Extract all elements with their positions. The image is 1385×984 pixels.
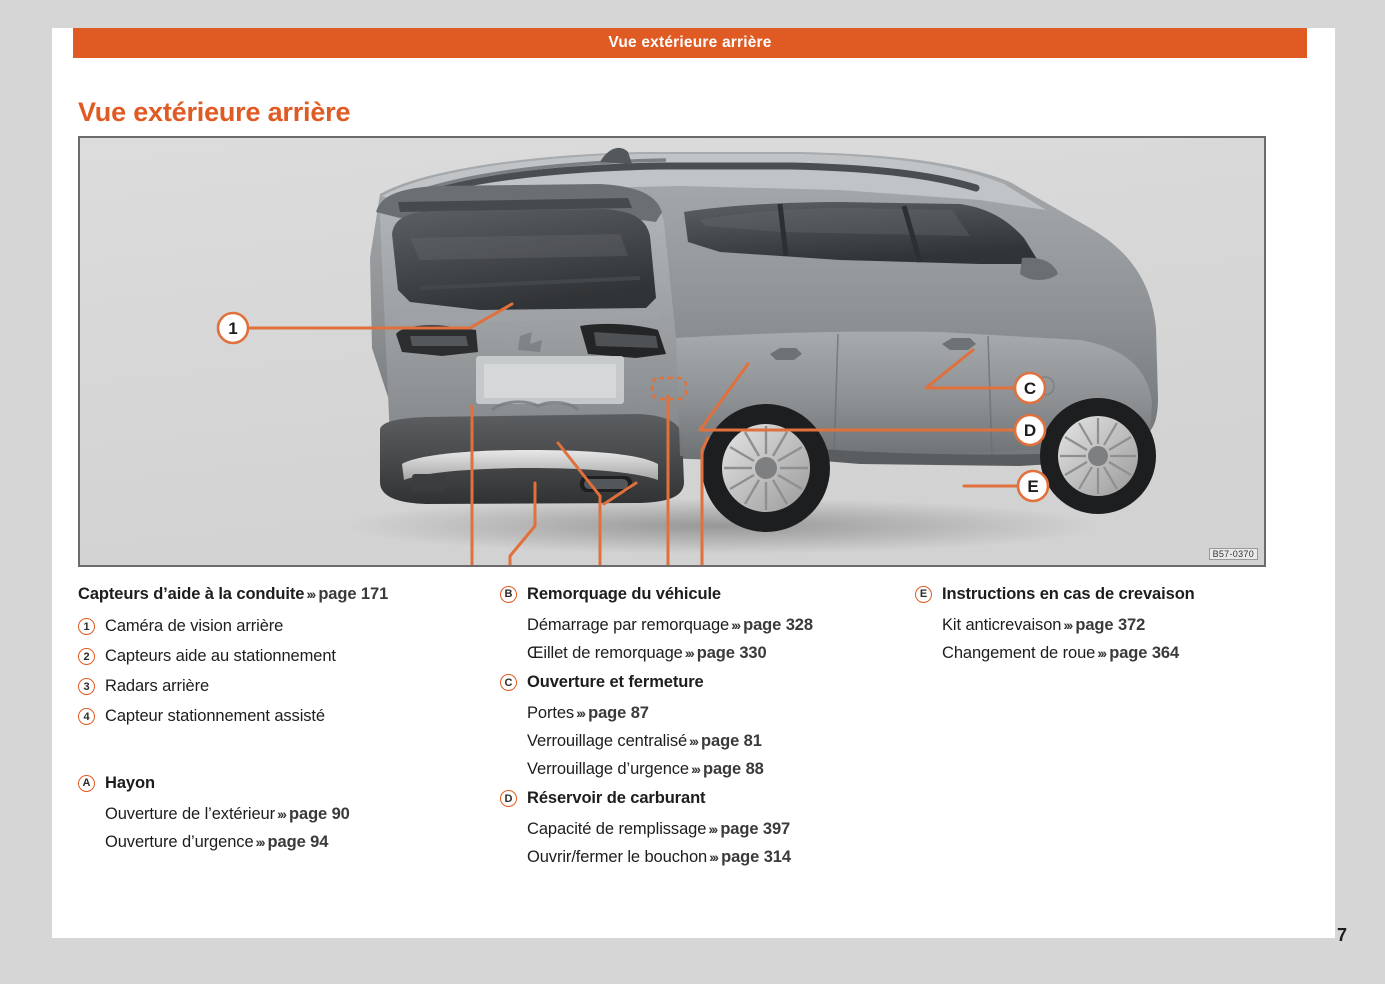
legend-group-towing: B Remorquage du véhicule bbox=[500, 584, 900, 605]
list-item-label: Ouverture de l’extérieur bbox=[105, 805, 275, 823]
list-item-label: Capteurs aide au stationnement bbox=[105, 646, 336, 667]
page-reference[interactable]: page 328 bbox=[743, 616, 813, 634]
legend-group-label: Réservoir de carburant bbox=[527, 788, 705, 809]
callout-marker-3: 3 bbox=[78, 678, 95, 695]
legend-column-1: Capteurs d’aide à la conduite›››page 171… bbox=[78, 584, 488, 861]
svg-text:E: E bbox=[1027, 477, 1038, 496]
legend-spacer bbox=[78, 737, 488, 773]
callout-marker-b: B bbox=[500, 586, 517, 603]
legend-group-hayon: A Hayon bbox=[78, 773, 488, 794]
chevron-icon: ››› bbox=[277, 806, 285, 822]
list-item-label: Portes bbox=[527, 704, 574, 722]
callout-marker-1: 1 bbox=[78, 618, 95, 635]
chevron-icon: ››› bbox=[1097, 645, 1105, 661]
page-number: 7 bbox=[1337, 925, 1347, 946]
legend-heading-label: Capteurs d’aide à la conduite bbox=[78, 585, 304, 603]
legend-group-opening-closing: C Ouverture et fermeture bbox=[500, 672, 900, 693]
list-item: 3 Radars arrière bbox=[78, 676, 488, 697]
list-item-label: Caméra de vision arrière bbox=[105, 616, 283, 637]
list-item: Démarrage par remorquage›››page 328 bbox=[527, 616, 900, 635]
chevron-icon: ››› bbox=[691, 761, 699, 777]
figure-frame: 1 A B 2 3 4 C D E B57-0370 bbox=[78, 136, 1266, 567]
list-item: 2 Capteurs aide au stationnement bbox=[78, 646, 488, 667]
chevron-icon: ››› bbox=[1063, 617, 1071, 633]
svg-text:C: C bbox=[1024, 379, 1036, 398]
page-reference[interactable]: page 397 bbox=[720, 820, 790, 838]
page-reference[interactable]: page 364 bbox=[1109, 644, 1179, 662]
legend-group-puncture: E Instructions en cas de crevaison bbox=[915, 584, 1315, 605]
chevron-icon: ››› bbox=[731, 617, 739, 633]
callout-marker-d: D bbox=[500, 790, 517, 807]
page-reference[interactable]: page 90 bbox=[289, 805, 350, 823]
list-item-label: Capteur stationnement assisté bbox=[105, 706, 325, 727]
page-reference[interactable]: page 88 bbox=[703, 760, 764, 778]
list-item-label: Ouverture d’urgence bbox=[105, 833, 254, 851]
list-item: Ouvrir/fermer le bouchon›››page 314 bbox=[527, 848, 900, 867]
list-item: Changement de roue›››page 364 bbox=[942, 644, 1315, 663]
legend-group-label: Remorquage du véhicule bbox=[527, 584, 721, 605]
list-item: Kit anticrevaison›››page 372 bbox=[942, 616, 1315, 635]
legend-group-label: Hayon bbox=[105, 773, 155, 794]
page-reference[interactable]: page 372 bbox=[1075, 616, 1145, 634]
page-reference[interactable]: page 314 bbox=[721, 848, 791, 866]
list-item: Ouverture de l’extérieur›››page 90 bbox=[105, 805, 488, 824]
list-item-label: Ouvrir/fermer le bouchon bbox=[527, 848, 707, 866]
list-item: Verrouillage d’urgence›››page 88 bbox=[527, 760, 900, 779]
page-reference[interactable]: page 94 bbox=[268, 833, 329, 851]
list-item-label: Démarrage par remorquage bbox=[527, 616, 729, 634]
legend-heading-driving-sensors: Capteurs d’aide à la conduite›››page 171 bbox=[78, 584, 488, 605]
callout-marker-a: A bbox=[78, 775, 95, 792]
list-item-label: Capacité de remplissage bbox=[527, 820, 706, 838]
chevron-icon: ››› bbox=[689, 733, 697, 749]
chevron-icon: ››› bbox=[256, 834, 264, 850]
chevron-icon: ››› bbox=[709, 849, 717, 865]
list-item: Œillet de remorquage›››page 330 bbox=[527, 644, 900, 663]
page-title: Vue extérieure arrière bbox=[78, 97, 350, 128]
chevron-icon: ››› bbox=[576, 705, 584, 721]
rear-exterior-view-illustration: 1 A B 2 3 4 C D E bbox=[80, 138, 1264, 565]
legend-group-fuel-tank: D Réservoir de carburant bbox=[500, 788, 900, 809]
callout-marker-2: 2 bbox=[78, 648, 95, 665]
list-item-label: Verrouillage centralisé bbox=[527, 732, 687, 750]
list-item-label: Radars arrière bbox=[105, 676, 209, 697]
chevron-icon: ››› bbox=[685, 645, 693, 661]
svg-text:D: D bbox=[1024, 421, 1036, 440]
list-item: Capacité de remplissage›››page 397 bbox=[527, 820, 900, 839]
callout-marker-c: C bbox=[500, 674, 517, 691]
list-item: Portes›››page 87 bbox=[527, 704, 900, 723]
figure-code-label: B57-0370 bbox=[1209, 548, 1258, 560]
list-item-label: Changement de roue bbox=[942, 644, 1095, 662]
chevron-icon: ››› bbox=[306, 586, 314, 602]
list-item: 1 Caméra de vision arrière bbox=[78, 616, 488, 637]
page-reference[interactable]: page 81 bbox=[701, 732, 762, 750]
list-item: Verrouillage centralisé›››page 81 bbox=[527, 732, 900, 751]
page-reference[interactable]: page 87 bbox=[588, 704, 649, 722]
svg-text:1: 1 bbox=[228, 319, 237, 338]
callout-marker-4: 4 bbox=[78, 708, 95, 725]
list-item: Ouverture d’urgence›››page 94 bbox=[105, 833, 488, 852]
list-item-label: Œillet de remorquage bbox=[527, 644, 683, 662]
legend-group-label: Ouverture et fermeture bbox=[527, 672, 704, 693]
running-head-banner: Vue extérieure arrière bbox=[73, 28, 1307, 58]
list-item-label: Verrouillage d’urgence bbox=[527, 760, 689, 778]
legend-column-2: B Remorquage du véhicule Démarrage par r… bbox=[500, 584, 900, 876]
callout-marker-e: E bbox=[915, 586, 932, 603]
chevron-icon: ››› bbox=[708, 821, 716, 837]
page-reference[interactable]: page 330 bbox=[697, 644, 767, 662]
legend-heading-page[interactable]: page 171 bbox=[318, 585, 388, 603]
legend-column-3: E Instructions en cas de crevaison Kit a… bbox=[915, 584, 1315, 672]
running-head-text: Vue extérieure arrière bbox=[608, 34, 771, 52]
list-item-label: Kit anticrevaison bbox=[942, 616, 1061, 634]
list-item: 4 Capteur stationnement assisté bbox=[78, 706, 488, 727]
legend-group-label: Instructions en cas de crevaison bbox=[942, 584, 1195, 605]
